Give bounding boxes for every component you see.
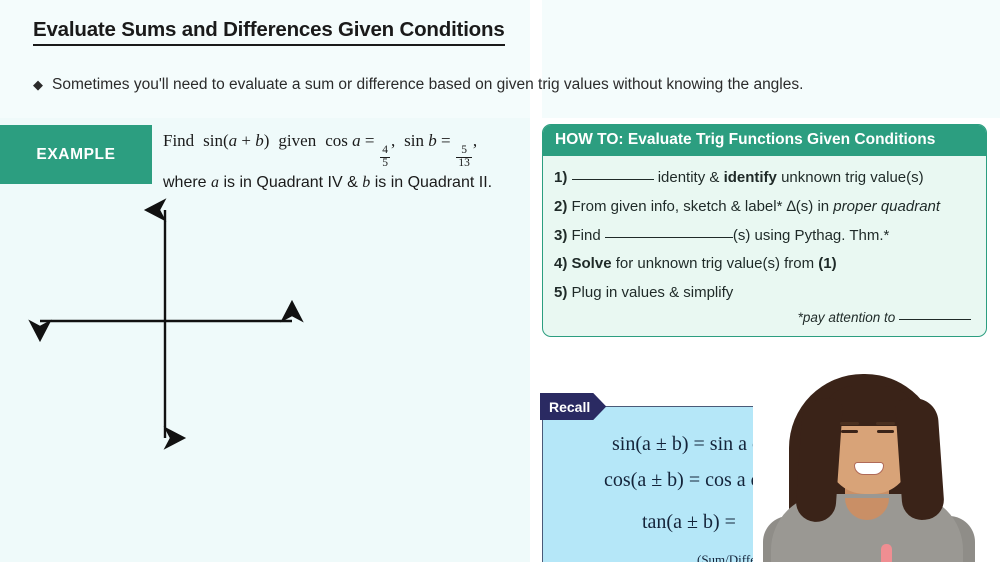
presenter-mouth: [854, 462, 884, 475]
howto-step-5-text: Plug in values & simplify: [572, 284, 734, 301]
howto-step-1-number: 1): [554, 169, 567, 186]
presenter-eye-left: [841, 430, 858, 433]
howto-step-1: 1) identity & identify unknown trig valu…: [554, 164, 975, 193]
intro-bullet-text: Sometimes you'll need to evaluate a sum …: [52, 76, 803, 94]
example-badge: EXAMPLE: [0, 125, 152, 184]
presenter-microphone: [881, 544, 892, 562]
howto-step-4-bold-last: (1): [818, 255, 836, 272]
fraction-numerator: 4: [380, 145, 390, 157]
axes-svg: [20, 190, 320, 460]
howto-step-2-number: 2): [554, 198, 567, 215]
howto-step-1-text-b: unknown trig value(s): [777, 169, 924, 186]
line2-mid: is in Quadrant IV &: [223, 174, 357, 191]
howto-step-2-text: From given info, sketch & label* ∆(s) in: [572, 198, 834, 215]
slide-page: Evaluate Sums and Differences Given Cond…: [0, 0, 1000, 562]
line2-end: is in Quadrant II.: [375, 174, 492, 191]
presenter-hair-side-right: [895, 397, 945, 522]
presenter-eyebrow-right: [876, 422, 895, 425]
howto-step-4: 4) Solve for unknown trig value(s) from …: [554, 250, 975, 279]
howto-step-5-number: 5): [554, 284, 567, 301]
diamond-bullet-icon: ◆: [33, 78, 43, 91]
line2-var-b: b: [362, 174, 370, 191]
howto-step-1-blank: [572, 179, 654, 180]
instructor-video-overlay: [753, 368, 1000, 562]
recall-badge: Recall: [540, 393, 606, 420]
fraction-denominator: 13: [456, 157, 472, 170]
prompt-find-word: Find: [163, 131, 194, 150]
fraction-five-thirteenths: 5 13: [456, 145, 472, 170]
line2-where: where: [163, 174, 207, 191]
fraction-numerator: 5: [459, 145, 469, 157]
howto-panel-header: HOW TO: Evaluate Trig Functions Given Co…: [543, 125, 986, 156]
howto-step-3-number: 3): [554, 227, 567, 244]
coordinate-axes-sketch: [20, 190, 320, 460]
howto-step-4-bold-first: Solve: [572, 255, 612, 272]
prompt-given-word: given: [274, 131, 320, 150]
presenter-eye-right: [877, 430, 894, 433]
howto-step-4-number: 4): [554, 255, 567, 272]
howto-step-3-pre: Find: [572, 227, 605, 244]
example-prompt-line-1: Find sin(a + b) given cos a = 4 5 , sin …: [163, 124, 523, 170]
howto-step-1-text-a: identity &: [658, 169, 724, 186]
howto-step-1-bold: identify: [724, 169, 777, 186]
howto-footnote: *pay attention to: [554, 308, 975, 330]
howto-step-4-text: for unknown trig value(s) from: [612, 255, 819, 272]
howto-footnote-text: *pay attention to: [798, 310, 896, 325]
fraction-denominator: 5: [380, 157, 390, 170]
prompt-cos-a: cos a =: [325, 131, 374, 150]
line2-var-a: a: [211, 174, 219, 191]
example-prompt: Find sin(a + b) given cos a = 4 5 , sin …: [163, 124, 523, 196]
prompt-trailing-comma: ,: [473, 131, 477, 150]
howto-step-2-italic: proper quadrant: [833, 198, 940, 215]
howto-panel-body: 1) identity & identify unknown trig valu…: [543, 156, 986, 336]
fraction-four-fifths: 4 5: [380, 145, 390, 170]
howto-step-5: 5) Plug in values & simplify: [554, 279, 975, 308]
howto-footnote-blank: [899, 319, 971, 320]
howto-step-3-blank: [605, 237, 733, 238]
prompt-sin-b: sin b =: [400, 131, 451, 150]
intro-bullet-row: ◆ Sometimes you'll need to evaluate a su…: [33, 76, 803, 94]
howto-step-3-post: (s) using Pythag. Thm.*: [733, 227, 889, 244]
prompt-expression: sin(a + b): [199, 131, 270, 150]
howto-step-3: 3) Find (s) using Pythag. Thm.*: [554, 222, 975, 251]
howto-panel: HOW TO: Evaluate Trig Functions Given Co…: [542, 124, 987, 337]
prompt-comma: ,: [391, 131, 395, 150]
howto-step-2: 2) From given info, sketch & label* ∆(s)…: [554, 193, 975, 222]
page-title: Evaluate Sums and Differences Given Cond…: [33, 18, 505, 46]
presenter-eyebrow-left: [840, 422, 859, 425]
